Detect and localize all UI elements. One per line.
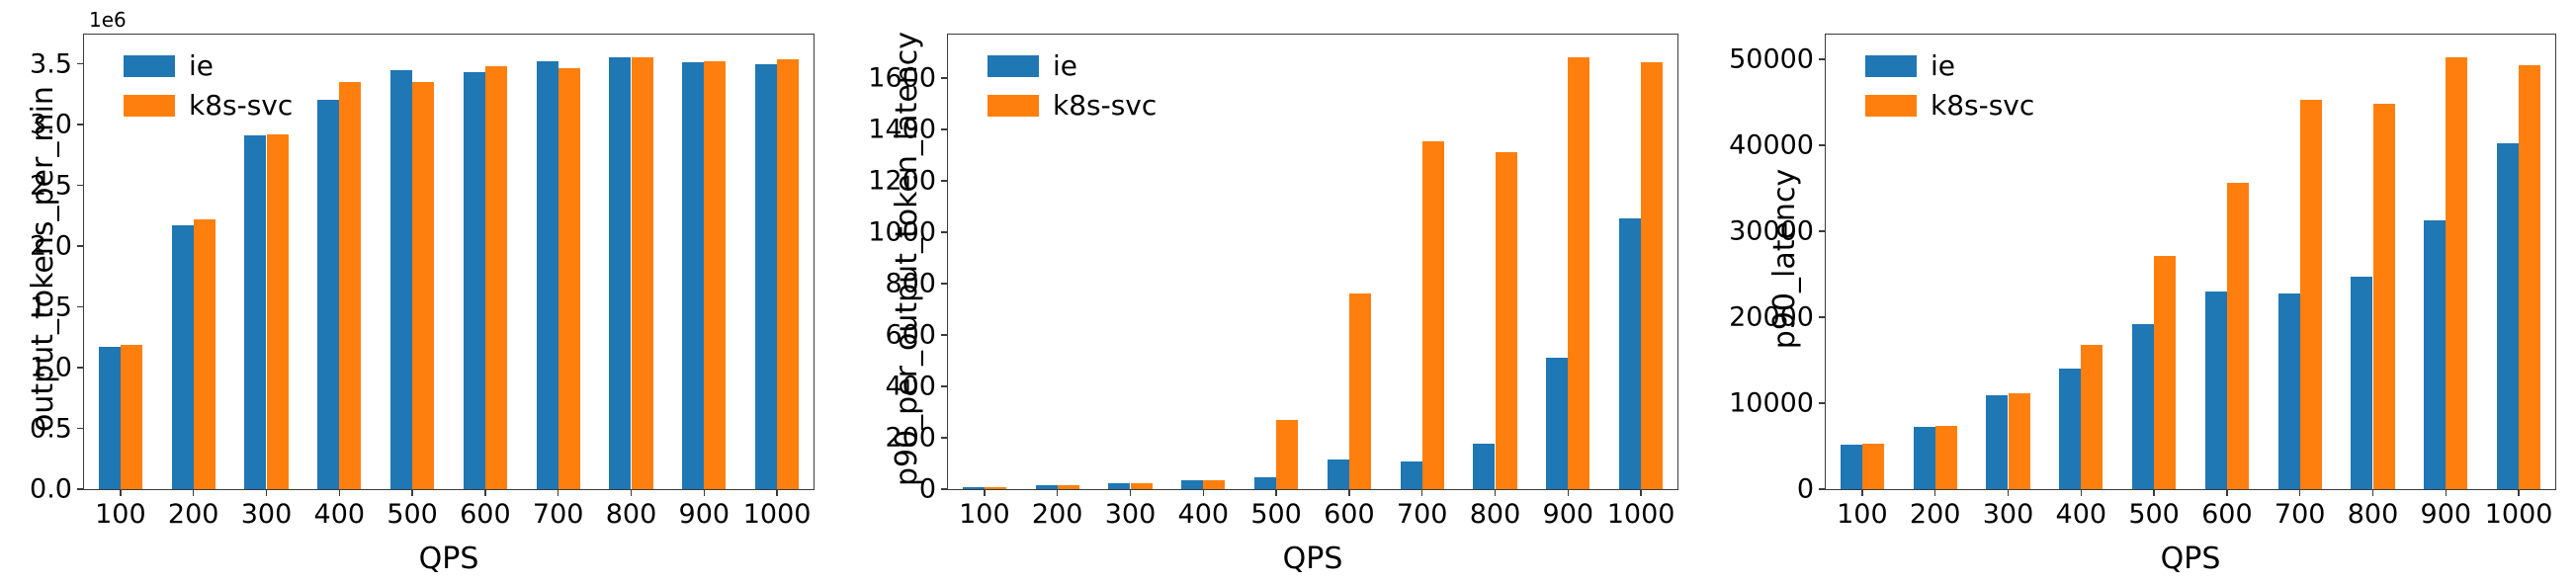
bar-k8s-svc-400 — [2081, 345, 2103, 489]
x-tick-label: 600 — [2201, 501, 2253, 528]
bar-k8s-svc-600 — [2227, 183, 2249, 489]
legend-label: ie — [1931, 52, 1955, 80]
y-tick-mark — [1819, 58, 1826, 60]
x-tick-label: 1000 — [2485, 501, 2553, 528]
bar-ie-300 — [1986, 395, 2008, 489]
x-tick-mark — [2446, 489, 2447, 496]
bar-k8s-svc-700 — [2300, 100, 2322, 489]
bar-k8s-svc-100 — [1862, 444, 1884, 489]
x-tick-mark — [2153, 489, 2155, 496]
y-tick-mark — [1819, 230, 1826, 232]
x-tick-mark — [2226, 489, 2228, 496]
bar-k8s-svc-900 — [2446, 57, 2467, 489]
plot-axes: 0100002000030000400005000010020030040050… — [1825, 34, 2556, 490]
figure-canvas: output_tokens_per_min1e6QPS0.00.51.01.52… — [0, 0, 2576, 585]
legend-item-ie[interactable]: ie — [1865, 52, 2034, 80]
bar-ie-700 — [2278, 293, 2300, 489]
y-tick-mark — [1819, 316, 1826, 318]
bar-ie-400 — [2059, 369, 2081, 489]
bar-k8s-svc-1000 — [2519, 65, 2540, 489]
y-tick-label: 30000 — [1729, 218, 1814, 245]
legend-label: k8s-svc — [1931, 92, 2034, 120]
x-tick-mark — [2372, 489, 2374, 496]
bar-ie-600 — [2205, 292, 2227, 489]
y-tick-label: 10000 — [1729, 390, 1814, 417]
legend: iek8s-svc — [1865, 52, 2034, 120]
bar-ie-100 — [1841, 445, 1862, 489]
bar-ie-1000 — [2497, 143, 2519, 489]
bar-k8s-svc-300 — [2009, 393, 2030, 489]
y-tick-label: 50000 — [1729, 46, 1814, 73]
legend-swatch-icon — [1865, 95, 1917, 117]
legend-item-k8s-svc[interactable]: k8s-svc — [1865, 92, 2034, 120]
y-tick-label: 0 — [1797, 476, 1814, 503]
x-tick-mark — [2008, 489, 2010, 496]
bar-ie-200 — [1914, 427, 1935, 489]
legend-swatch-icon — [1865, 55, 1917, 77]
bar-ie-800 — [2351, 277, 2372, 489]
x-tick-label: 300 — [1983, 501, 2034, 528]
y-tick-label: 20000 — [1729, 304, 1814, 331]
y-tick-mark — [1819, 402, 1826, 404]
x-tick-label: 500 — [2128, 501, 2180, 528]
bar-ie-900 — [2424, 220, 2446, 489]
x-tick-mark — [1934, 489, 1936, 496]
bar-ie-500 — [2132, 324, 2154, 489]
x-tick-label: 900 — [2421, 501, 2472, 528]
x-tick-label: 700 — [2275, 501, 2326, 528]
x-tick-mark — [1861, 489, 1863, 496]
y-tick-mark — [1819, 488, 1826, 490]
x-tick-mark — [2299, 489, 2301, 496]
y-axis-label: p90_latency — [1763, 12, 1807, 506]
x-tick-label: 200 — [1910, 501, 1961, 528]
y-tick-mark — [1819, 144, 1826, 146]
x-tick-label: 400 — [2056, 501, 2107, 528]
y-tick-label: 40000 — [1729, 132, 1814, 159]
x-axis-label: QPS — [2042, 542, 2339, 576]
x-tick-mark — [2518, 489, 2520, 496]
bar-k8s-svc-200 — [1935, 426, 1957, 489]
x-tick-label: 100 — [1837, 501, 1888, 528]
subplot-3: p90_latencyQPS01000020000300004000050000… — [0, 0, 2576, 585]
bar-k8s-svc-800 — [2373, 104, 2395, 489]
x-tick-label: 800 — [2348, 501, 2399, 528]
x-tick-mark — [2081, 489, 2083, 496]
bar-k8s-svc-500 — [2154, 256, 2176, 489]
